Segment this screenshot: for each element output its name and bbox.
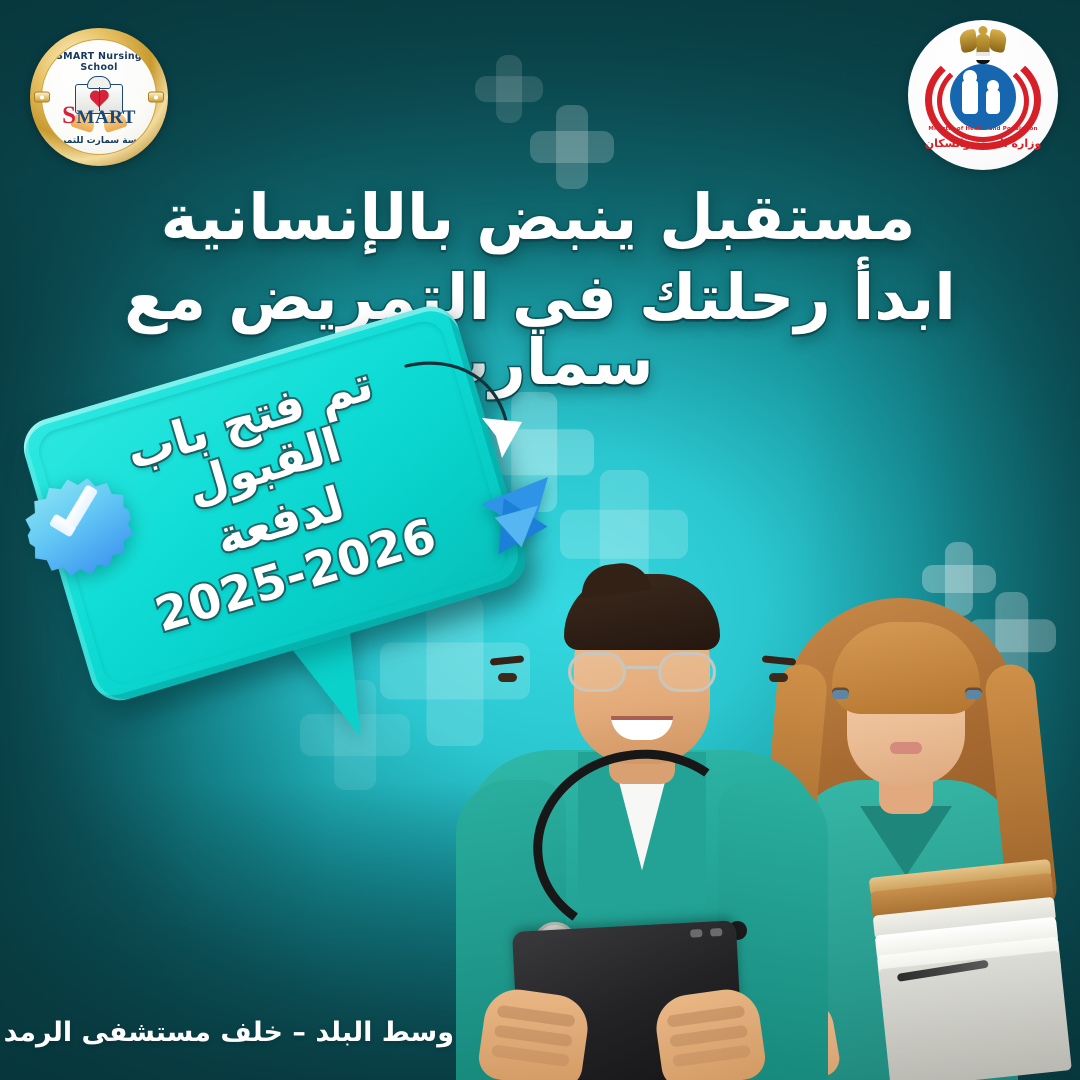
headline-line-2: ابدأ رحلتك في التمريض مع سمارت	[30, 266, 1050, 395]
seal-wordmark-rest: MART	[77, 107, 136, 128]
smart-nursing-school-seal: SMART Nursing School SMART مدرسة سمارت ل…	[30, 28, 168, 166]
seal-left-pin-icon	[34, 92, 50, 103]
poster-canvas: SMART Nursing School SMART مدرسة سمارت ل…	[0, 0, 1080, 1080]
headline-line-1: مستقبل ينبض بالإنسانية	[30, 186, 1050, 250]
moh-text-en: Ministry of Health and Population	[908, 126, 1058, 132]
moh-text-ar: وزارة الصحة والسكان	[908, 137, 1058, 150]
seal-wordmark: SMART	[62, 102, 136, 130]
seal-top-text: SMART Nursing School	[42, 51, 156, 73]
curved-white-arrow-icon	[398, 358, 538, 488]
address-bar: وسط البلد – خلف مستشفى الرمد	[0, 1000, 480, 1064]
address-text: وسط البلد – خلف مستشفى الرمد	[4, 1017, 454, 1048]
medical-cross-icon	[530, 105, 614, 189]
folders-stack	[866, 835, 1072, 1080]
seal-right-pin-icon	[148, 92, 164, 103]
seal-wordmark-initial: S	[62, 102, 76, 129]
seal-bottom-text: مدرسة سمارت للتمريض	[42, 136, 156, 146]
egypt-ministry-of-health-logo: Ministry of Health and Population وزارة …	[908, 20, 1058, 170]
moh-family-disc-icon	[950, 64, 1016, 130]
eyeglasses-icon	[568, 652, 716, 692]
headline-block: مستقبل ينبض بالإنسانية ابدأ رحلتك في الت…	[30, 186, 1050, 395]
